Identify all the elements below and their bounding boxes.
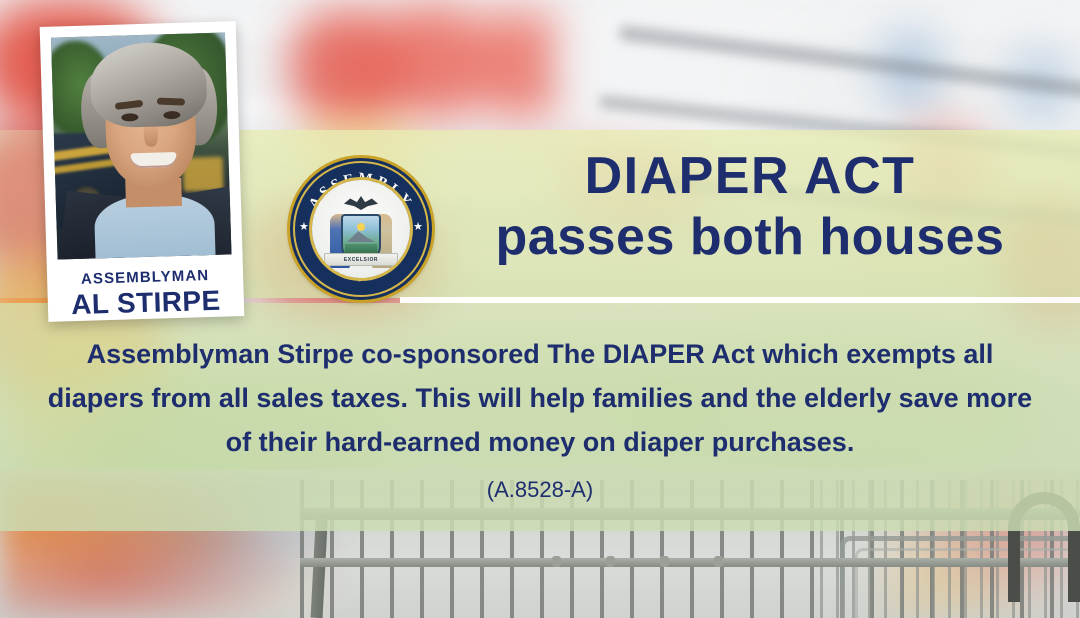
body-paragraph: Assemblyman Stirpe co-sponsored The DIAP…	[40, 332, 1040, 464]
seal-motto-banner: EXCELSIOR	[324, 253, 398, 266]
assemblyman-photo-card: ASSEMBLYMAN AL STIRPE	[40, 21, 245, 322]
seal-eagle-icon	[344, 196, 378, 210]
cart-handle-bar	[300, 558, 1080, 567]
seal-star-icon: ★	[413, 222, 423, 233]
headline-line-1: DIAPER ACT	[448, 150, 1052, 202]
portrait-nose	[144, 121, 159, 147]
seal-motto-text: EXCELSIOR	[344, 257, 378, 263]
ny-assembly-seal: ASSEMBLY STATE OF NEW YORK ★ ★ EXCELSIOR	[290, 158, 432, 300]
cart-clip	[606, 556, 615, 567]
headline-line-2: passes both houses	[448, 211, 1052, 263]
headline-block: DIAPER ACT passes both houses	[448, 150, 1052, 263]
seal-sun-icon	[357, 223, 365, 231]
cart-clip	[714, 556, 723, 567]
portrait-smile	[130, 152, 176, 168]
product-blur	[470, 10, 570, 120]
bill-number: (A.8528-A)	[0, 477, 1080, 503]
poster-graphic: ASSEMBLYMAN AL STIRPE ASSEMBLY STATE OF …	[0, 0, 1080, 618]
photo-caption-name: AL STIRPE	[59, 286, 234, 319]
portrait-eyebrow	[157, 98, 185, 106]
assemblyman-portrait	[51, 32, 232, 259]
cart-clip	[552, 556, 561, 567]
cart-clip	[660, 556, 669, 567]
seal-mountain	[347, 230, 375, 242]
seal-coat-of-arms: EXCELSIOR	[312, 180, 410, 278]
seal-star-icon: ★	[299, 222, 309, 233]
